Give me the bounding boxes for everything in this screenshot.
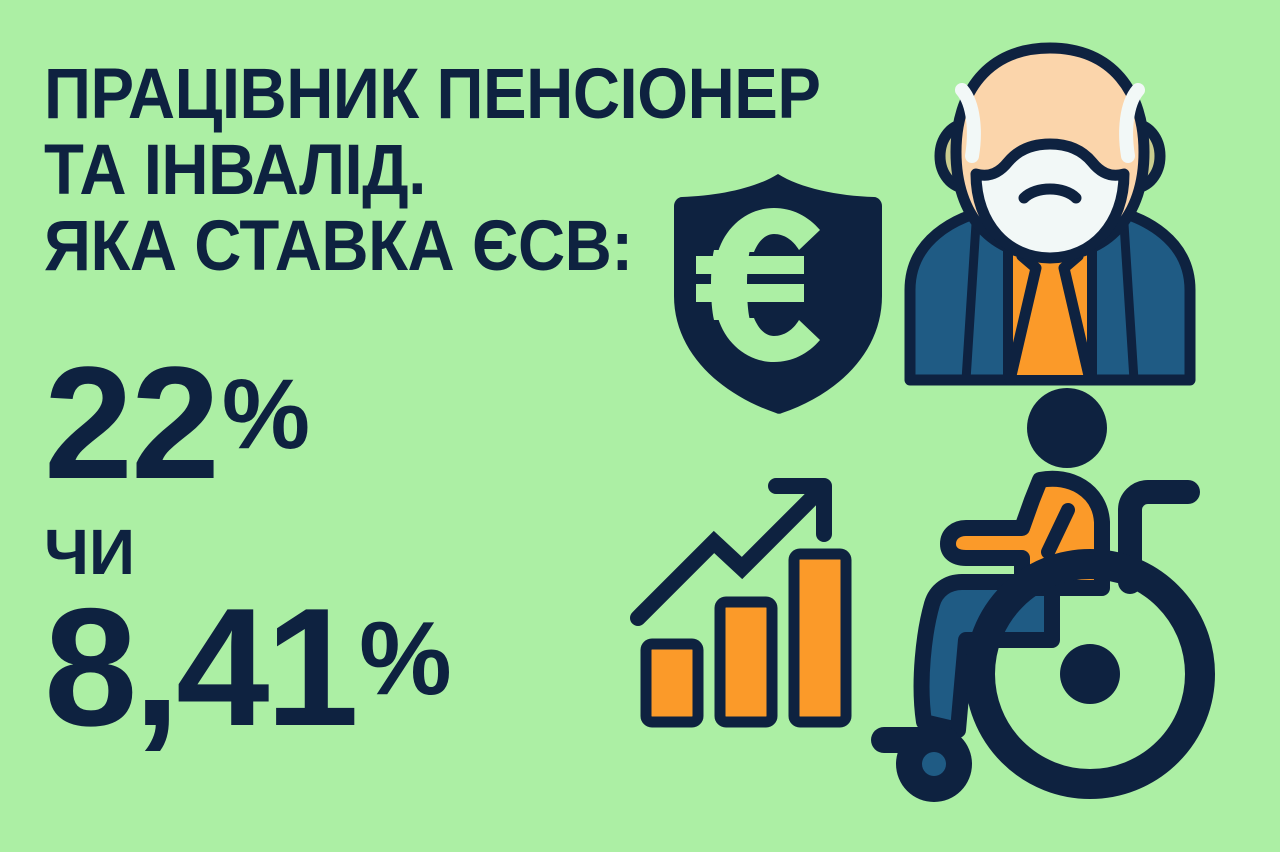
bar-1 — [646, 644, 698, 722]
growth-bar-chart-icon — [624, 444, 874, 734]
rate-primary-unit: % — [222, 359, 308, 470]
bar-2 — [720, 602, 772, 722]
headline-line-1: ПРАЦІВНИК ПЕНСІОНЕР — [44, 62, 821, 128]
rate-primary-value: 22 — [44, 333, 218, 512]
rate-secondary: 8,41% — [44, 596, 448, 739]
shield-euro-icon — [668, 172, 888, 416]
bar-3 — [794, 554, 846, 722]
elderly-pensioner-icon — [890, 28, 1210, 380]
main-wheel-hub — [1060, 644, 1120, 704]
rate-secondary-value: 8,41 — [44, 573, 355, 761]
head — [1027, 388, 1107, 468]
wheelchair-user-icon — [862, 382, 1214, 814]
caster-hub — [922, 752, 946, 776]
poster-canvas: ПРАЦІВНИК ПЕНСІОНЕР ТА ІНВАЛІД. ЯКА СТАВ… — [0, 0, 1280, 852]
rate-primary: 22% — [44, 355, 308, 491]
rate-secondary-unit: % — [359, 601, 448, 717]
